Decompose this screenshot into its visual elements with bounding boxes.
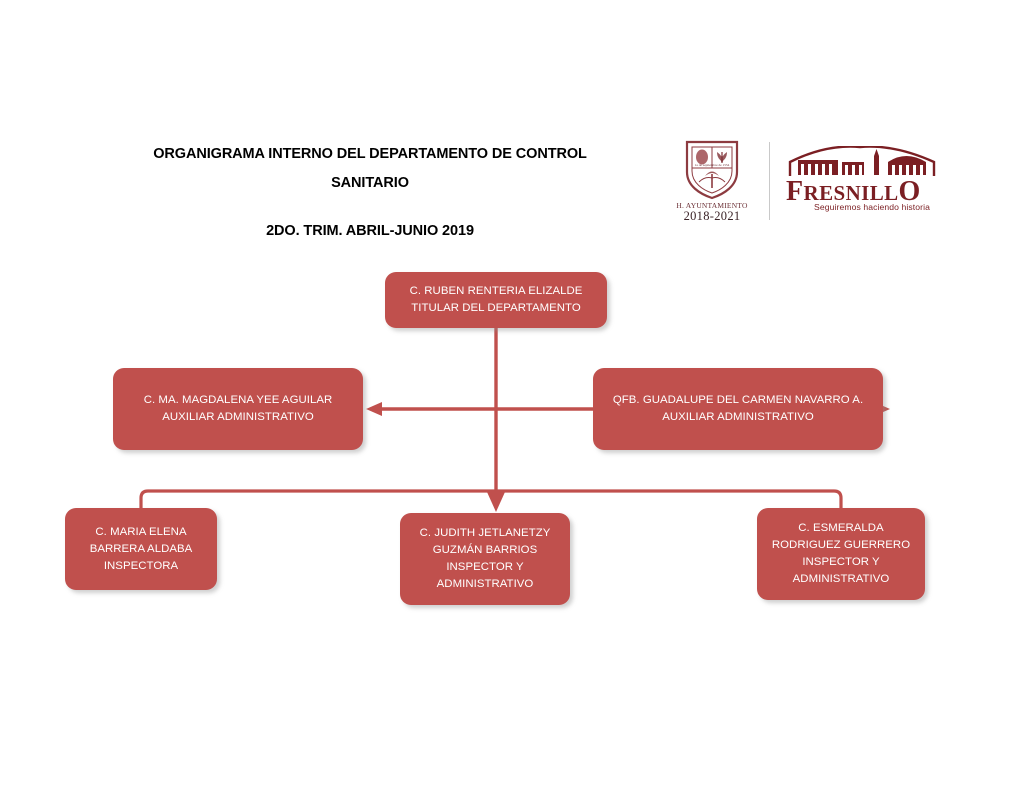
node-line: AUXILIAR ADMINISTRATIVO <box>144 409 333 426</box>
node-line: QFB. GUADALUPE DEL CARMEN NAVARRO A. <box>613 392 863 409</box>
org-node-auxiliar-right[interactable]: QFB. GUADALUPE DEL CARMEN NAVARRO A. AUX… <box>593 368 883 450</box>
node-line: C. JUDITH JETLANETZY <box>420 525 551 542</box>
org-node-titular[interactable]: C. RUBEN RENTERIA ELIZALDE TITULAR DEL D… <box>385 272 607 328</box>
node-line: C. MARIA ELENA <box>90 524 193 541</box>
node-line: C. RUBEN RENTERIA ELIZALDE <box>410 283 583 300</box>
node-line: INSPECTORA <box>90 558 193 575</box>
org-chart: C. RUBEN RENTERIA ELIZALDE TITULAR DEL D… <box>0 0 1024 791</box>
node-line: TITULAR DEL DEPARTAMENTO <box>410 300 583 317</box>
org-node-inspectora-barrera[interactable]: C. MARIA ELENA BARRERA ALDABA INSPECTORA <box>65 508 217 590</box>
node-line: BARRERA ALDABA <box>90 541 193 558</box>
org-node-titular-text: C. RUBEN RENTERIA ELIZALDE TITULAR DEL D… <box>402 283 591 317</box>
org-node-inspector-rodriguez[interactable]: C. ESMERALDA RODRIGUEZ GUERRERO INSPECTO… <box>757 508 925 600</box>
node-line: C. MA. MAGDALENA YEE AGUILAR <box>144 392 333 409</box>
org-node-inspector-guzman[interactable]: C. JUDITH JETLANETZY GUZMÁN BARRIOS INSP… <box>400 513 570 605</box>
org-node-auxiliar-left-text: C. MA. MAGDALENA YEE AGUILAR AUXILIAR AD… <box>136 392 341 426</box>
node-line: RODRIGUEZ GUERRERO <box>772 537 910 554</box>
node-line: INSPECTOR Y <box>420 559 551 576</box>
node-line: INSPECTOR Y <box>772 554 910 571</box>
node-line: ADMINISTRATIVO <box>772 571 910 588</box>
org-node-auxiliar-right-text: QFB. GUADALUPE DEL CARMEN NAVARRO A. AUX… <box>605 392 871 426</box>
node-line: ADMINISTRATIVO <box>420 576 551 593</box>
node-line: GUZMÁN BARRIOS <box>420 542 551 559</box>
org-node-inspectora-barrera-text: C. MARIA ELENA BARRERA ALDABA INSPECTORA <box>82 524 201 575</box>
node-line: AUXILIAR ADMINISTRATIVO <box>613 409 863 426</box>
org-node-inspector-guzman-text: C. JUDITH JETLANETZY GUZMÁN BARRIOS INSP… <box>412 525 559 593</box>
org-node-inspector-rodriguez-text: C. ESMERALDA RODRIGUEZ GUERRERO INSPECTO… <box>764 520 918 588</box>
org-node-auxiliar-left[interactable]: C. MA. MAGDALENA YEE AGUILAR AUXILIAR AD… <box>113 368 363 450</box>
node-line: C. ESMERALDA <box>772 520 910 537</box>
